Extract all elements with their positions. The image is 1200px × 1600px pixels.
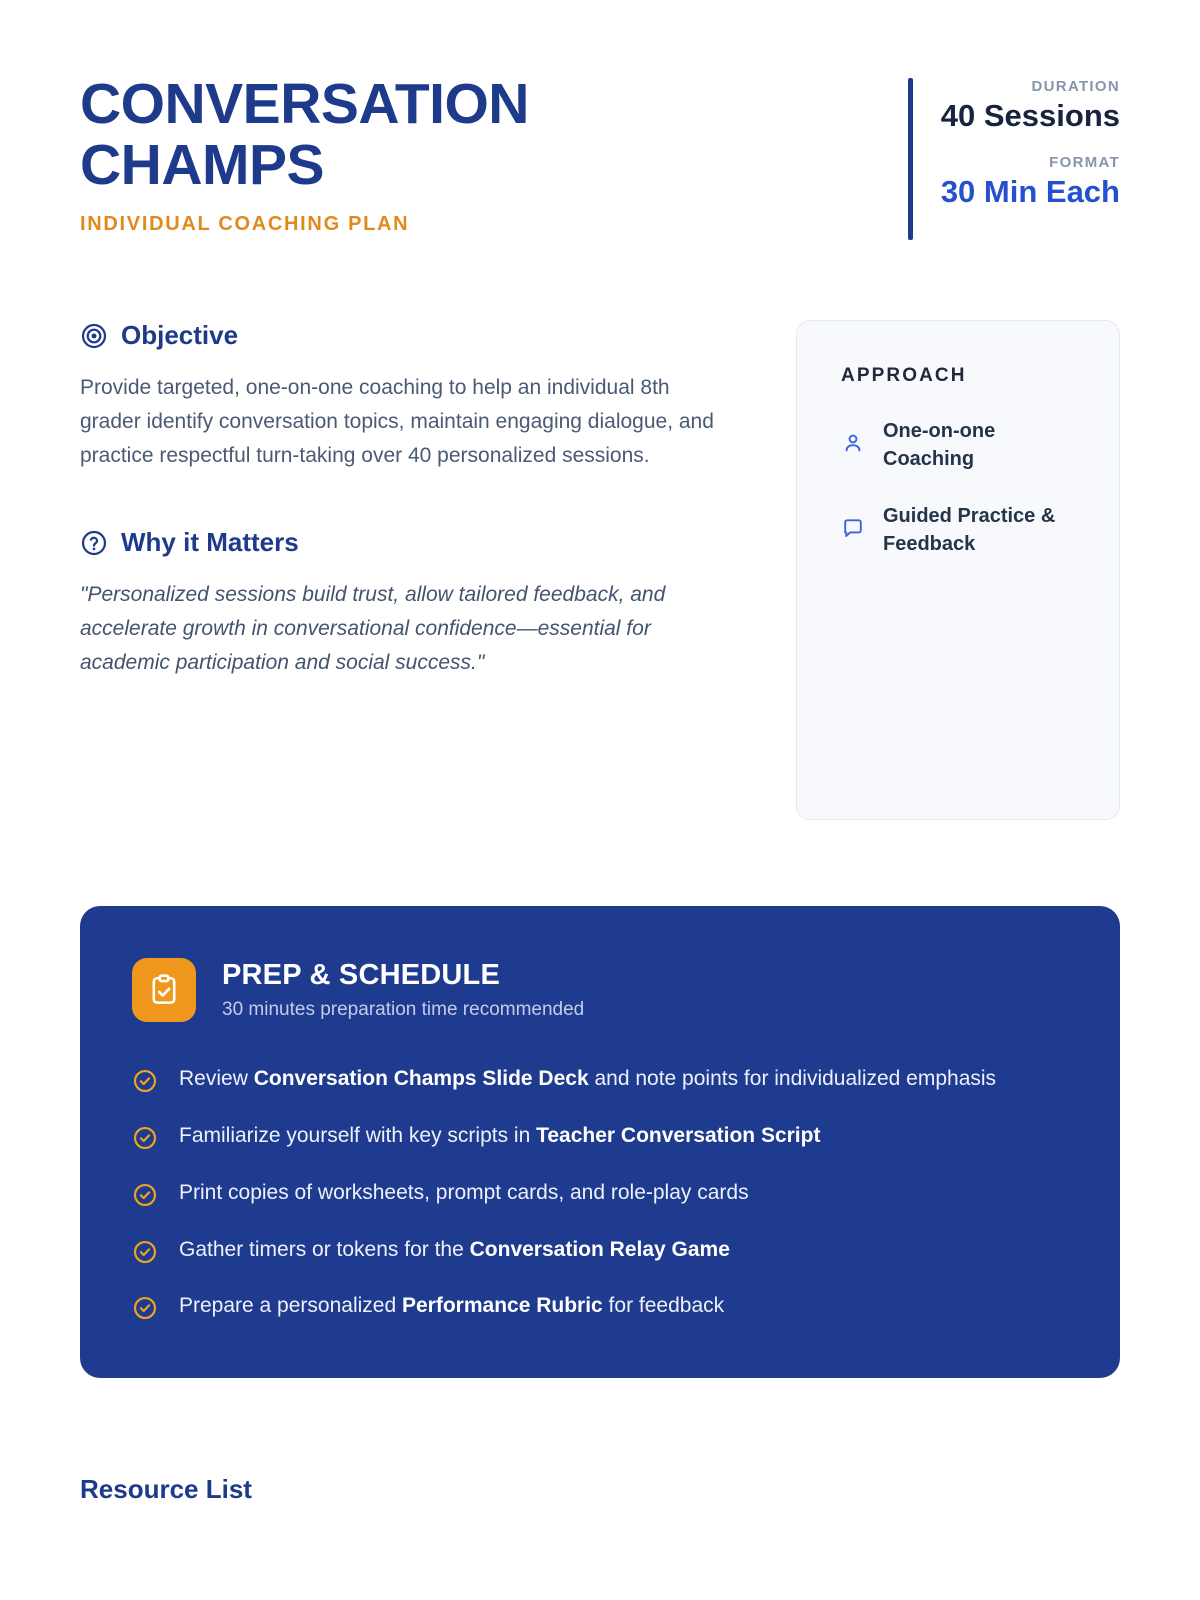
meta-item-duration: DURATION 40 Sessions xyxy=(941,78,1120,136)
meta-items: DURATION 40 Sessions FORMAT 30 Min Each xyxy=(941,78,1120,240)
prep-header: PREP & SCHEDULE 30 minutes preparation t… xyxy=(132,958,1064,1022)
why-it-matters-section: Why it Matters "Personalized sessions bu… xyxy=(80,527,740,680)
meta-value-duration: 40 Sessions xyxy=(941,97,1120,136)
objective-text: Provide targeted, one-on-one coaching to… xyxy=(80,371,730,473)
page-subtitle: INDIVIDUAL COACHING PLAN xyxy=(80,213,529,236)
page-title-line2: CHAMPS xyxy=(80,135,529,196)
prep-item-text: Familiarize yourself with key scripts in… xyxy=(179,1121,820,1152)
prep-item-bold: Conversation Champs Slide Deck xyxy=(254,1067,589,1090)
objective-section: Objective Provide targeted, one-on-one c… xyxy=(80,320,740,473)
meta-value-format: 30 Min Each xyxy=(941,173,1120,212)
prep-item-pre: Print copies of worksheets, prompt cards… xyxy=(179,1181,749,1204)
list-item: Prepare a personalized Performance Rubri… xyxy=(132,1291,1064,1322)
approach-item-guided-practice: Guided Practice & Feedback xyxy=(841,502,1081,559)
prep-item-text: Gather timers or tokens for the Conversa… xyxy=(179,1235,730,1266)
approach-item-label: One-on-one Coaching xyxy=(883,417,1073,474)
prep-item-post: for feedback xyxy=(603,1294,724,1317)
prep-checklist: Review Conversation Champs Slide Deck an… xyxy=(132,1064,1064,1322)
speech-bubble-icon xyxy=(841,516,865,540)
approach-item-label: Guided Practice & Feedback xyxy=(883,502,1073,559)
person-icon xyxy=(841,431,865,455)
list-item: Print copies of worksheets, prompt cards… xyxy=(132,1178,1064,1209)
approach-card-title: APPROACH xyxy=(841,365,1081,387)
content-column-right: APPROACH One-on-one Coaching xyxy=(796,320,1120,820)
resource-list-heading: Resource List xyxy=(80,1474,1120,1505)
meta-label-format: FORMAT xyxy=(941,154,1120,171)
approach-list: One-on-one Coaching Guided Practice & Fe… xyxy=(841,417,1081,559)
why-it-matters-heading: Why it Matters xyxy=(80,527,740,558)
prep-item-bold: Performance Rubric xyxy=(402,1294,603,1317)
prep-item-post: and note points for individualized empha… xyxy=(589,1067,996,1090)
why-it-matters-quote: "Personalized sessions build trust, allo… xyxy=(80,578,740,680)
content-column-left: Objective Provide targeted, one-on-one c… xyxy=(80,320,740,680)
page-title: CONVERSATION CHAMPS xyxy=(80,74,529,196)
prep-header-text: PREP & SCHEDULE 30 minutes preparation t… xyxy=(222,959,584,1020)
meta-label-duration: DURATION xyxy=(941,78,1120,95)
check-circle-icon xyxy=(132,1182,158,1208)
prep-item-text: Prepare a personalized Performance Rubri… xyxy=(179,1291,724,1322)
prep-title: PREP & SCHEDULE xyxy=(222,959,584,992)
objective-heading-label: Objective xyxy=(121,320,238,351)
prep-item-text: Print copies of worksheets, prompt cards… xyxy=(179,1178,749,1209)
question-circle-icon xyxy=(80,529,108,557)
list-item: Familiarize yourself with key scripts in… xyxy=(132,1121,1064,1152)
prep-schedule-card: PREP & SCHEDULE 30 minutes preparation t… xyxy=(80,906,1120,1378)
vertical-divider xyxy=(908,78,913,240)
prep-item-pre: Familiarize yourself with key scripts in xyxy=(179,1124,536,1147)
clipboard-check-icon xyxy=(132,958,196,1022)
list-item: Gather timers or tokens for the Conversa… xyxy=(132,1235,1064,1266)
check-circle-icon xyxy=(132,1125,158,1151)
list-item: Review Conversation Champs Slide Deck an… xyxy=(132,1064,1064,1095)
check-circle-icon xyxy=(132,1239,158,1265)
why-it-matters-heading-label: Why it Matters xyxy=(121,527,299,558)
prep-item-pre: Review xyxy=(179,1067,254,1090)
document-header: CONVERSATION CHAMPS INDIVIDUAL COACHING … xyxy=(80,0,1120,240)
target-icon xyxy=(80,322,108,350)
check-circle-icon xyxy=(132,1068,158,1094)
meta-item-format: FORMAT 30 Min Each xyxy=(941,154,1120,212)
objective-heading: Objective xyxy=(80,320,740,351)
approach-item-coaching: One-on-one Coaching xyxy=(841,417,1081,474)
document-page: CONVERSATION CHAMPS INDIVIDUAL COACHING … xyxy=(0,0,1200,1600)
prep-item-pre: Prepare a personalized xyxy=(179,1294,402,1317)
prep-item-text: Review Conversation Champs Slide Deck an… xyxy=(179,1064,996,1095)
approach-card: APPROACH One-on-one Coaching xyxy=(796,320,1120,820)
header-meta-block: DURATION 40 Sessions FORMAT 30 Min Each xyxy=(908,78,1120,240)
prep-item-pre: Gather timers or tokens for the xyxy=(179,1238,470,1261)
prep-item-bold: Conversation Relay Game xyxy=(470,1238,730,1261)
prep-subtitle: 30 minutes preparation time recommended xyxy=(222,999,584,1021)
main-content: Objective Provide targeted, one-on-one c… xyxy=(80,320,1120,820)
title-block: CONVERSATION CHAMPS INDIVIDUAL COACHING … xyxy=(80,74,529,236)
check-circle-icon xyxy=(132,1295,158,1321)
page-title-line1: CONVERSATION xyxy=(80,72,529,136)
prep-item-bold: Teacher Conversation Script xyxy=(536,1124,820,1147)
